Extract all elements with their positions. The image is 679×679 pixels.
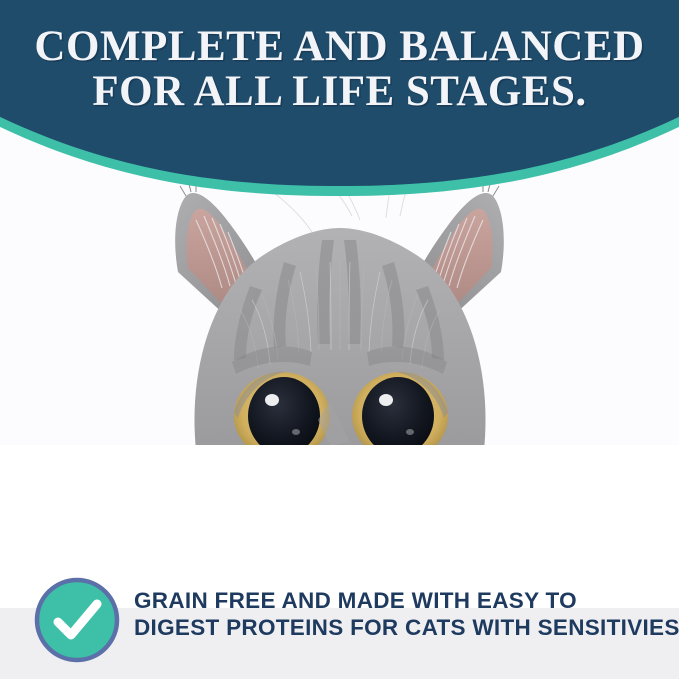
cat-photo-area	[0, 120, 679, 610]
feature-text: GRAIN FREE AND MADE WITH EASY TO DIGEST …	[134, 587, 674, 641]
check-circle-icon	[34, 577, 120, 663]
header-title-line-1: COMPLETE AND BALANCED	[0, 24, 679, 69]
header-title: COMPLETE AND BALANCED FOR ALL LIFE STAGE…	[0, 24, 679, 114]
feature-text-line-2: DIGEST PROTEINS FOR CATS WITH SENSITIVIE…	[134, 614, 674, 641]
feature-text-line-1: GRAIN FREE AND MADE WITH EASY TO	[134, 587, 674, 614]
header-title-line-2: FOR ALL LIFE STAGES.	[0, 69, 679, 114]
cat-illustration	[0, 120, 679, 450]
feature-row: GRAIN FREE AND MADE WITH EASY TO DIGEST …	[0, 560, 679, 679]
product-feature-banner: COMPLETE AND BALANCED FOR ALL LIFE STAGE…	[0, 0, 679, 679]
